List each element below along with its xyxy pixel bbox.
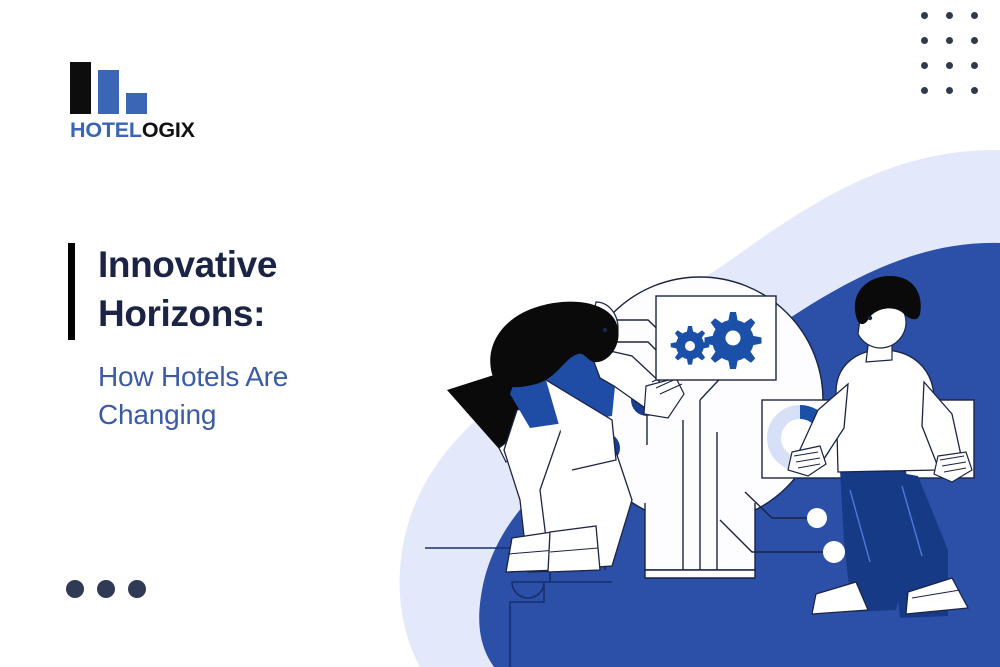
page-subtitle: How Hotels Are Changing	[68, 358, 398, 434]
circuit-node-light	[807, 508, 827, 528]
logo-word-primary: HOTEL	[70, 118, 142, 142]
gear-small-icon	[671, 326, 710, 365]
decor-dot	[128, 580, 146, 598]
circuit-node-light	[823, 541, 845, 563]
grid-dot	[946, 12, 953, 19]
logo-bar-medium-icon	[98, 70, 119, 114]
decor-dot	[66, 580, 84, 598]
dot-row-bottom-left	[66, 580, 146, 598]
grid-dot	[971, 62, 978, 69]
grid-dot	[971, 12, 978, 19]
innovation-lightbulb-illustration	[400, 170, 1000, 667]
grid-dot	[921, 37, 928, 44]
logo-bar-tall-icon	[70, 62, 91, 114]
logo-bar-square-icon	[126, 93, 147, 114]
gears-panel	[656, 296, 776, 380]
grid-dot	[946, 87, 953, 94]
dot-grid-top-right	[921, 12, 978, 94]
grid-dot	[971, 87, 978, 94]
page-title: Innovative Horizons:	[68, 240, 398, 338]
hotelogix-logo[interactable]: HOTELOGIX	[70, 62, 195, 142]
grid-dot	[921, 62, 928, 69]
man-carrying-panel	[788, 276, 972, 618]
poster-canvas: HOTELOGIX Innovative Horizons: How Hotel…	[0, 0, 1000, 667]
headline-block: Innovative Horizons: How Hotels Are Chan…	[68, 240, 398, 435]
logo-wordmark: HOTELOGIX	[70, 120, 195, 142]
logo-bars	[70, 62, 195, 114]
headline-accent-bar	[68, 243, 75, 340]
grid-dot	[946, 62, 953, 69]
grid-dot	[921, 87, 928, 94]
grid-dot	[971, 37, 978, 44]
logo-word-secondary: OGIX	[142, 118, 195, 142]
grid-dot	[946, 37, 953, 44]
gear-large-icon	[705, 312, 762, 369]
grid-dot	[921, 12, 928, 19]
decor-dot	[97, 580, 115, 598]
